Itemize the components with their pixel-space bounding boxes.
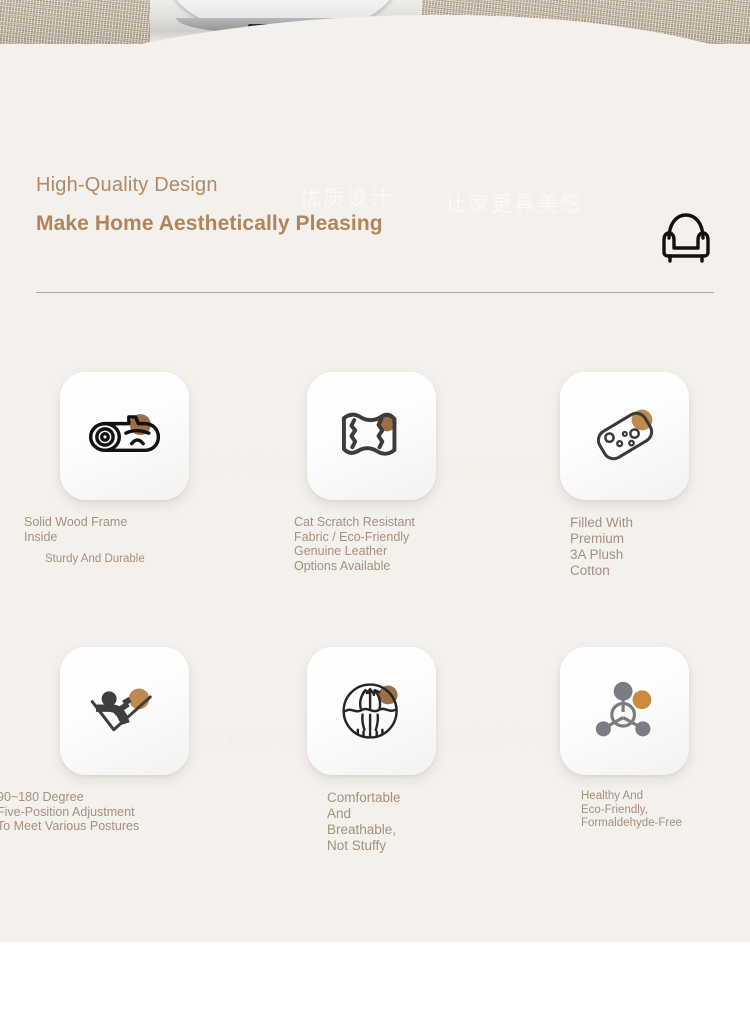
- feature-card-solid-wood-frame: Solid Wood Frame Inside Sturdy And Durab…: [0, 372, 250, 566]
- feature-card-eco-friendly-healthy: Healthy And Eco-Friendly, Formaldehyde-F…: [500, 647, 750, 831]
- feature-card-breathable-comfort: Comfortable And Breathable, Not Stuffy: [250, 647, 500, 854]
- feature-icon-tile: [60, 372, 189, 500]
- feature-caption: Cat Scratch Resistant Fabric / Eco-Frien…: [294, 515, 500, 573]
- feature-caption: Healthy And Eco-Friendly, Formaldehyde-F…: [581, 790, 750, 831]
- page-footer-space: [0, 942, 750, 1033]
- product-detail-page: 优质设计 让家更具美感 实木框架内置 防猫抓布料环保 五档调节 舒适透气不闷热 …: [0, 0, 750, 942]
- feature-icon-tile: [560, 647, 689, 775]
- feature-caption: 90~180 Degree Five-Position Adjustment T…: [0, 790, 250, 834]
- feature-icon-tile: [560, 372, 689, 500]
- header-divider: [36, 292, 714, 293]
- feature-icon-tile: [60, 647, 189, 775]
- feature-card-cat-scratch-fabric: Cat Scratch Resistant Fabric / Eco-Frien…: [250, 372, 500, 573]
- feature-card-plush-cotton-filling: Filled With Premium 3A Plush Cotton: [500, 372, 750, 579]
- product-photo-strip: [0, 0, 750, 44]
- feature-grid: Solid Wood Frame Inside Sturdy And Durab…: [0, 372, 750, 922]
- feature-icon-tile: [307, 372, 436, 500]
- breathable-circle-icon: [338, 677, 406, 745]
- feature-card-five-position-adjustment: 90~180 Degree Five-Position Adjustment T…: [0, 647, 250, 834]
- feature-caption: Filled With Premium 3A Plush Cotton: [570, 515, 750, 579]
- feature-row: Solid Wood Frame Inside Sturdy And Durab…: [0, 372, 750, 647]
- wood-log-icon: [84, 408, 166, 464]
- section-kicker: High-Quality Design: [36, 172, 714, 198]
- fabric-sheet-icon: [336, 407, 408, 465]
- feature-subcaption: Sturdy And Durable: [45, 552, 250, 566]
- page-title: Make Home Aesthetically Pleasing: [36, 211, 714, 237]
- feature-row: 90~180 Degree Five-Position Adjustment T…: [0, 647, 750, 922]
- section-header: High-Quality Design Make Home Aesthetica…: [36, 172, 714, 237]
- feature-caption: Comfortable And Breathable, Not Stuffy: [327, 790, 500, 854]
- feature-icon-tile: [307, 647, 436, 775]
- armchair-icon: [657, 206, 715, 266]
- feature-caption: Solid Wood Frame Inside: [24, 515, 250, 544]
- molecule-icon: [589, 680, 661, 742]
- cushion-icon: [587, 402, 663, 470]
- reclining-person-icon: [84, 682, 166, 740]
